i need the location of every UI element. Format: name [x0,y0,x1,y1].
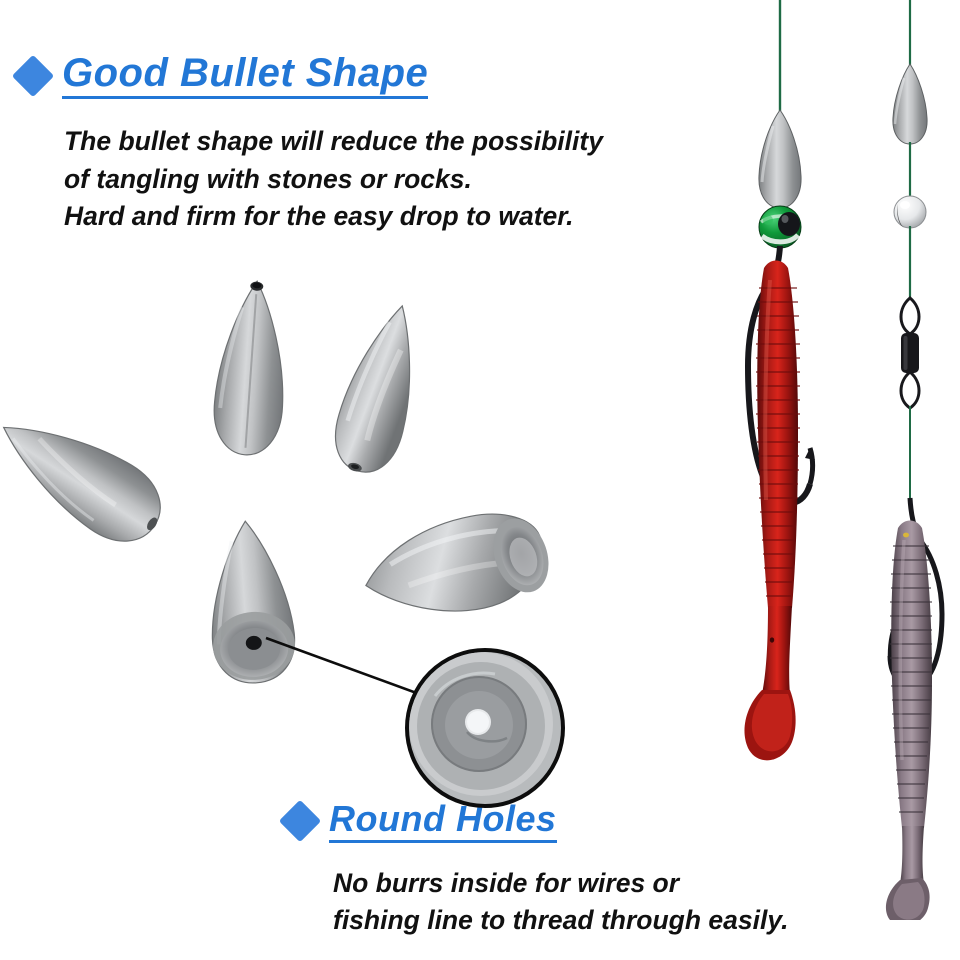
carolina-rig [862,0,960,920]
bullet-sinker [190,514,312,691]
heading-row-good-bullet-shape: Good Bullet Shape [18,52,603,99]
hole-closeup-magnifier [405,648,565,808]
section-heading: Round Holes [329,800,557,843]
section-round-holes: Round Holes No burrs inside for wires or… [285,800,788,940]
section-good-bullet-shape: Good Bullet Shape The bullet shape will … [18,52,603,236]
bullet-sinker [349,494,562,639]
texas-rig [718,0,838,790]
bullet-sinker [759,110,801,208]
infographic-canvas: Good Bullet Shape The bullet shape will … [0,0,960,960]
fish-eye-bead [759,206,801,248]
diamond-icon [279,800,321,842]
bullet-sinker [893,64,927,144]
bullet-sinker [0,385,186,569]
section-heading: Good Bullet Shape [62,52,428,99]
heading-row-round-holes: Round Holes [285,800,788,843]
barrel-swivel [901,298,919,408]
bullet-sinker [202,275,300,463]
glass-bead [894,196,926,228]
diamond-icon [12,54,54,96]
section-body-text: The bullet shape will reduce the possibi… [64,123,603,236]
bullet-sinker [316,292,443,486]
purple-ribbed-paddle-tail-worm [886,521,932,921]
section-body-text: No burrs inside for wires or fishing lin… [333,865,788,940]
